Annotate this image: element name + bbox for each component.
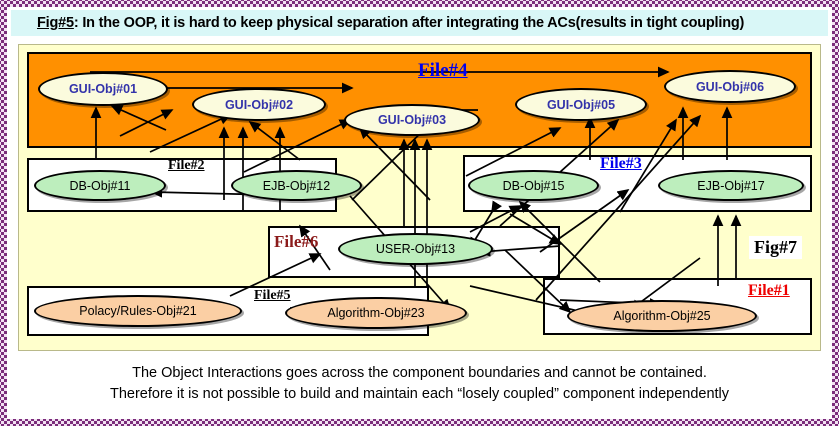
node-ejb-obj-17[interactable]: EJB-Obj#17	[658, 170, 804, 201]
node-gui-obj-01[interactable]: GUI-Obj#01	[38, 72, 168, 106]
label-file1: File#1	[748, 282, 790, 300]
node-gui-obj-02[interactable]: GUI-Obj#02	[192, 88, 326, 121]
label-fig7: Fig#7	[749, 236, 802, 259]
node-label: DB-Obj#15	[503, 179, 565, 193]
node-label: Algorithm-Obj#23	[327, 306, 424, 320]
node-user-obj-13[interactable]: USER-Obj#13	[338, 233, 493, 265]
figure-root: Fig#5: In the OOP, it is hard to keep ph…	[0, 0, 839, 426]
node-db-obj-15[interactable]: DB-Obj#15	[468, 170, 599, 201]
title-fig-number: Fig#5	[37, 15, 74, 31]
title-parenthetical: (results in tight coupling)	[576, 15, 745, 31]
node-gui-obj-06[interactable]: GUI-Obj#06	[664, 70, 796, 103]
node-algorithm-obj-25[interactable]: Algorithm-Obj#25	[567, 300, 757, 332]
caption-line-2: Therefore it is not possible to build an…	[110, 386, 729, 402]
node-policy-rules-obj-21[interactable]: Polacy/Rules-Obj#21	[34, 295, 242, 327]
label-file2: File#2	[168, 158, 205, 174]
node-label: GUI-Obj#01	[69, 82, 137, 96]
node-algorithm-obj-23[interactable]: Algorithm-Obj#23	[285, 297, 467, 329]
node-label: EJB-Obj#12	[263, 179, 330, 193]
node-db-obj-11[interactable]: DB-Obj#11	[34, 170, 166, 201]
node-gui-obj-05[interactable]: GUI-Obj#05	[515, 88, 647, 121]
node-ejb-obj-12[interactable]: EJB-Obj#12	[231, 170, 362, 201]
node-label: GUI-Obj#06	[696, 80, 764, 94]
label-file5: File#5	[254, 288, 291, 304]
label-file6: File#6	[274, 232, 318, 252]
node-label: GUI-Obj#05	[547, 98, 615, 112]
label-file4: File#4	[418, 60, 468, 82]
node-label: Polacy/Rules-Obj#21	[79, 304, 196, 318]
node-label: DB-Obj#11	[70, 179, 131, 193]
node-label: USER-Obj#13	[376, 242, 455, 256]
label-file3: File#3	[600, 155, 642, 173]
node-label: GUI-Obj#03	[378, 113, 446, 127]
figure-caption: The Object Interactions goes across the …	[11, 352, 828, 414]
title-main-text: : In the OOP, it is hard to keep physica…	[74, 15, 576, 31]
node-label: EJB-Obj#17	[697, 179, 764, 193]
figure-title-bar: Fig#5: In the OOP, it is hard to keep ph…	[11, 10, 828, 36]
node-label: Algorithm-Obj#25	[613, 309, 710, 323]
caption-line-1: The Object Interactions goes across the …	[132, 365, 707, 381]
node-label: GUI-Obj#02	[225, 98, 293, 112]
node-gui-obj-03[interactable]: GUI-Obj#03	[344, 104, 480, 136]
